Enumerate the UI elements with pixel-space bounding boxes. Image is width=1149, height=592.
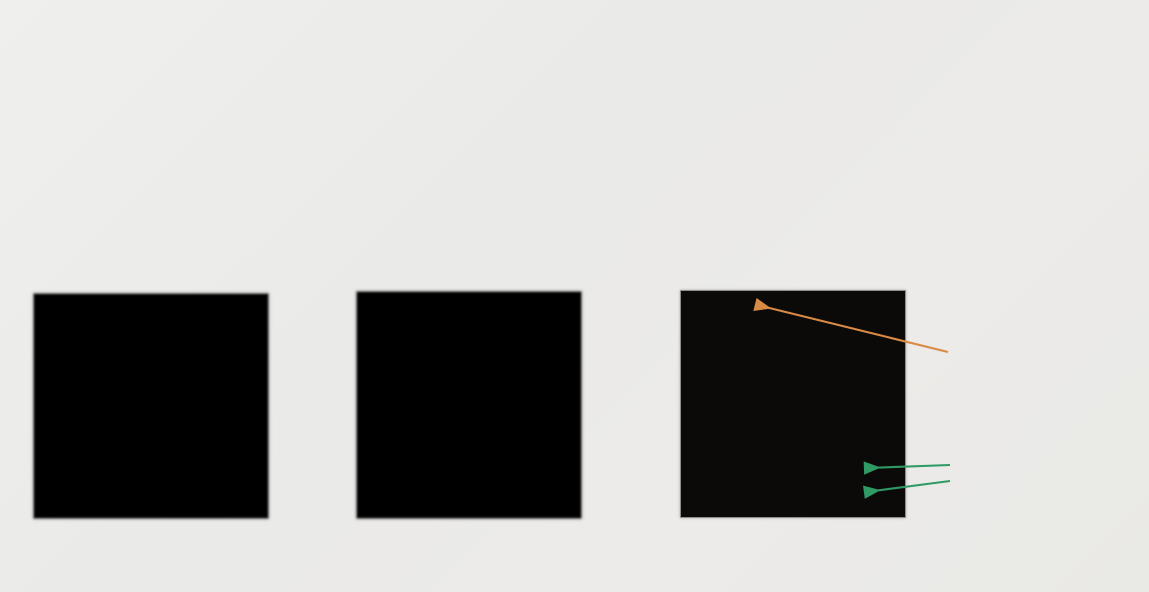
lighting-pdf-grid bbox=[357, 292, 581, 518]
slide-root bbox=[0, 0, 1149, 592]
lighting-pdf-image bbox=[356, 291, 582, 519]
brdf-pdf-grid bbox=[34, 294, 268, 518]
combined-bottom-grid bbox=[681, 399, 905, 517]
combined-pdf-inner bbox=[681, 291, 905, 517]
combined-top-grid bbox=[681, 291, 905, 399]
brdf-pdf-image bbox=[33, 293, 269, 519]
combined-pdf-image bbox=[680, 290, 906, 518]
